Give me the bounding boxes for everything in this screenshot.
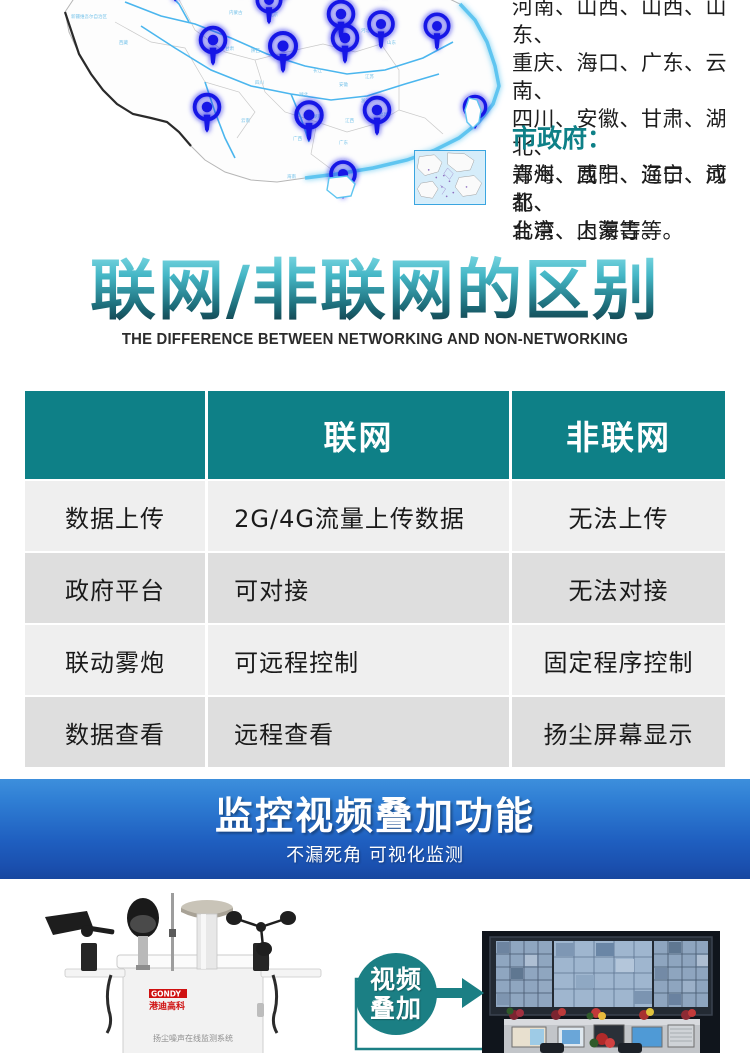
headline-english: THE DIFFERENCE BETWEEN NETWORKING AND NO…	[15, 331, 735, 349]
svg-text:GONDY: GONDY	[151, 990, 181, 999]
svg-text:云南: 云南	[241, 117, 250, 124]
svg-text:内蒙古: 内蒙古	[229, 9, 243, 16]
badge-line-1: 视频	[370, 965, 422, 994]
row-offline-value: 无法上传	[512, 481, 725, 551]
section-headline: 联网/非联网的区别 THE DIFFERENCE BETWEEN NETWORK…	[0, 252, 750, 370]
city-line: 郑州、咸阳、海口、成都、	[512, 161, 750, 217]
video-overlay-banner: 监控视频叠加功能 不漏死角 可视化监测	[0, 779, 750, 879]
comparison-table: 联网 非联网 数据上传 2G/4G流量上传数据 无法上传 政府平台 可对接 无法…	[22, 389, 728, 769]
row-label: 联动雾炮	[25, 625, 205, 695]
row-offline-value: 无法对接	[512, 553, 725, 623]
table-header-networked: 联网	[208, 391, 509, 479]
control-room-video-wall-icon	[482, 931, 720, 1053]
dust-noise-monitoring-station-icon: GONDY 港迪高科 扬尘噪声在线监测系统	[25, 881, 335, 1053]
row-offline-value: 固定程序控制	[512, 625, 725, 695]
table-row: 政府平台 可对接 无法对接	[25, 553, 725, 623]
svg-text:四川: 四川	[255, 80, 264, 86]
row-label: 政府平台	[25, 553, 205, 623]
svg-text:甘肃: 甘肃	[225, 45, 234, 52]
south-china-sea-inset	[414, 150, 486, 205]
table-row: 数据上传 2G/4G流量上传数据 无法上传	[25, 481, 725, 551]
control-room-photo	[482, 931, 720, 1053]
province-line: 河南、山西、山西、山东、	[512, 0, 750, 49]
badge-line-2: 叠加	[370, 994, 422, 1023]
province-line: 重庆、海口、广东、云南、	[512, 49, 750, 105]
svg-text:山东: 山东	[387, 39, 396, 46]
table-row: 数据查看 远程查看 扬尘屏幕显示	[25, 697, 725, 767]
city-government-list: 郑州、咸阳、海口、成都、 北京、上海等。	[512, 161, 750, 245]
video-overlay-badge: 视频 叠加	[355, 953, 437, 1035]
svg-text:西藏: 西藏	[119, 39, 128, 46]
svg-text:扬尘噪声在线监测系统: 扬尘噪声在线监测系统	[153, 1033, 233, 1043]
monitoring-station-photo: GONDY 港迪高科 扬尘噪声在线监测系统	[25, 881, 335, 1053]
headline-chinese: 联网/非联网的区别	[0, 252, 750, 330]
banner-subtitle: 不漏死角 可视化监测	[0, 841, 750, 867]
svg-text:安徽: 安徽	[339, 81, 348, 88]
svg-text:广西: 广西	[293, 135, 302, 142]
svg-text:陕西: 陕西	[251, 47, 260, 54]
row-label: 数据查看	[25, 697, 205, 767]
table-header-blank	[25, 391, 205, 479]
row-networked-value: 可远程控制	[208, 625, 509, 695]
row-offline-value: 扬尘屏幕显示	[512, 697, 725, 767]
city-line: 北京、上海等。	[512, 217, 750, 245]
table-row: 联动雾炮 可远程控制 固定程序控制	[25, 625, 725, 695]
svg-text:海南: 海南	[287, 173, 296, 180]
coverage-section: 新疆维吾尔自治区 西藏 内蒙古 北京 甘肃 陕西 长江 四川 湖北 安徽 江苏 …	[0, 0, 750, 235]
city-government-heading: 市政府：	[512, 124, 612, 154]
table-header: 联网 非联网	[25, 391, 725, 479]
row-label: 数据上传	[25, 481, 205, 551]
svg-text:湖北: 湖北	[299, 91, 308, 98]
banner-title: 监控视频叠加功能	[0, 779, 750, 839]
svg-text:新疆维吾尔自治区: 新疆维吾尔自治区	[71, 13, 107, 20]
svg-text:长江: 长江	[313, 67, 322, 74]
svg-text:江苏: 江苏	[365, 73, 374, 80]
china-map: 新疆维吾尔自治区 西藏 内蒙古 北京 甘肃 陕西 长江 四川 湖北 安徽 江苏 …	[55, 0, 515, 232]
infographic-page: 新疆维吾尔自治区 西藏 内蒙古 北京 甘肃 陕西 长江 四川 湖北 安徽 江苏 …	[0, 0, 750, 1053]
table-body: 数据上传 2G/4G流量上传数据 无法上传 政府平台 可对接 无法对接 联动雾炮…	[25, 481, 725, 767]
row-networked-value: 可对接	[208, 553, 509, 623]
table-header-row: 联网 非联网	[25, 391, 725, 479]
inset-map-icon	[415, 151, 484, 203]
svg-text:港迪高科: 港迪高科	[149, 1000, 185, 1012]
svg-text:江西: 江西	[345, 117, 354, 124]
table-header-offline: 非联网	[512, 391, 725, 479]
svg-text:广东: 广东	[339, 139, 348, 146]
row-networked-value: 2G/4G流量上传数据	[208, 481, 509, 551]
row-networked-value: 远程查看	[208, 697, 509, 767]
